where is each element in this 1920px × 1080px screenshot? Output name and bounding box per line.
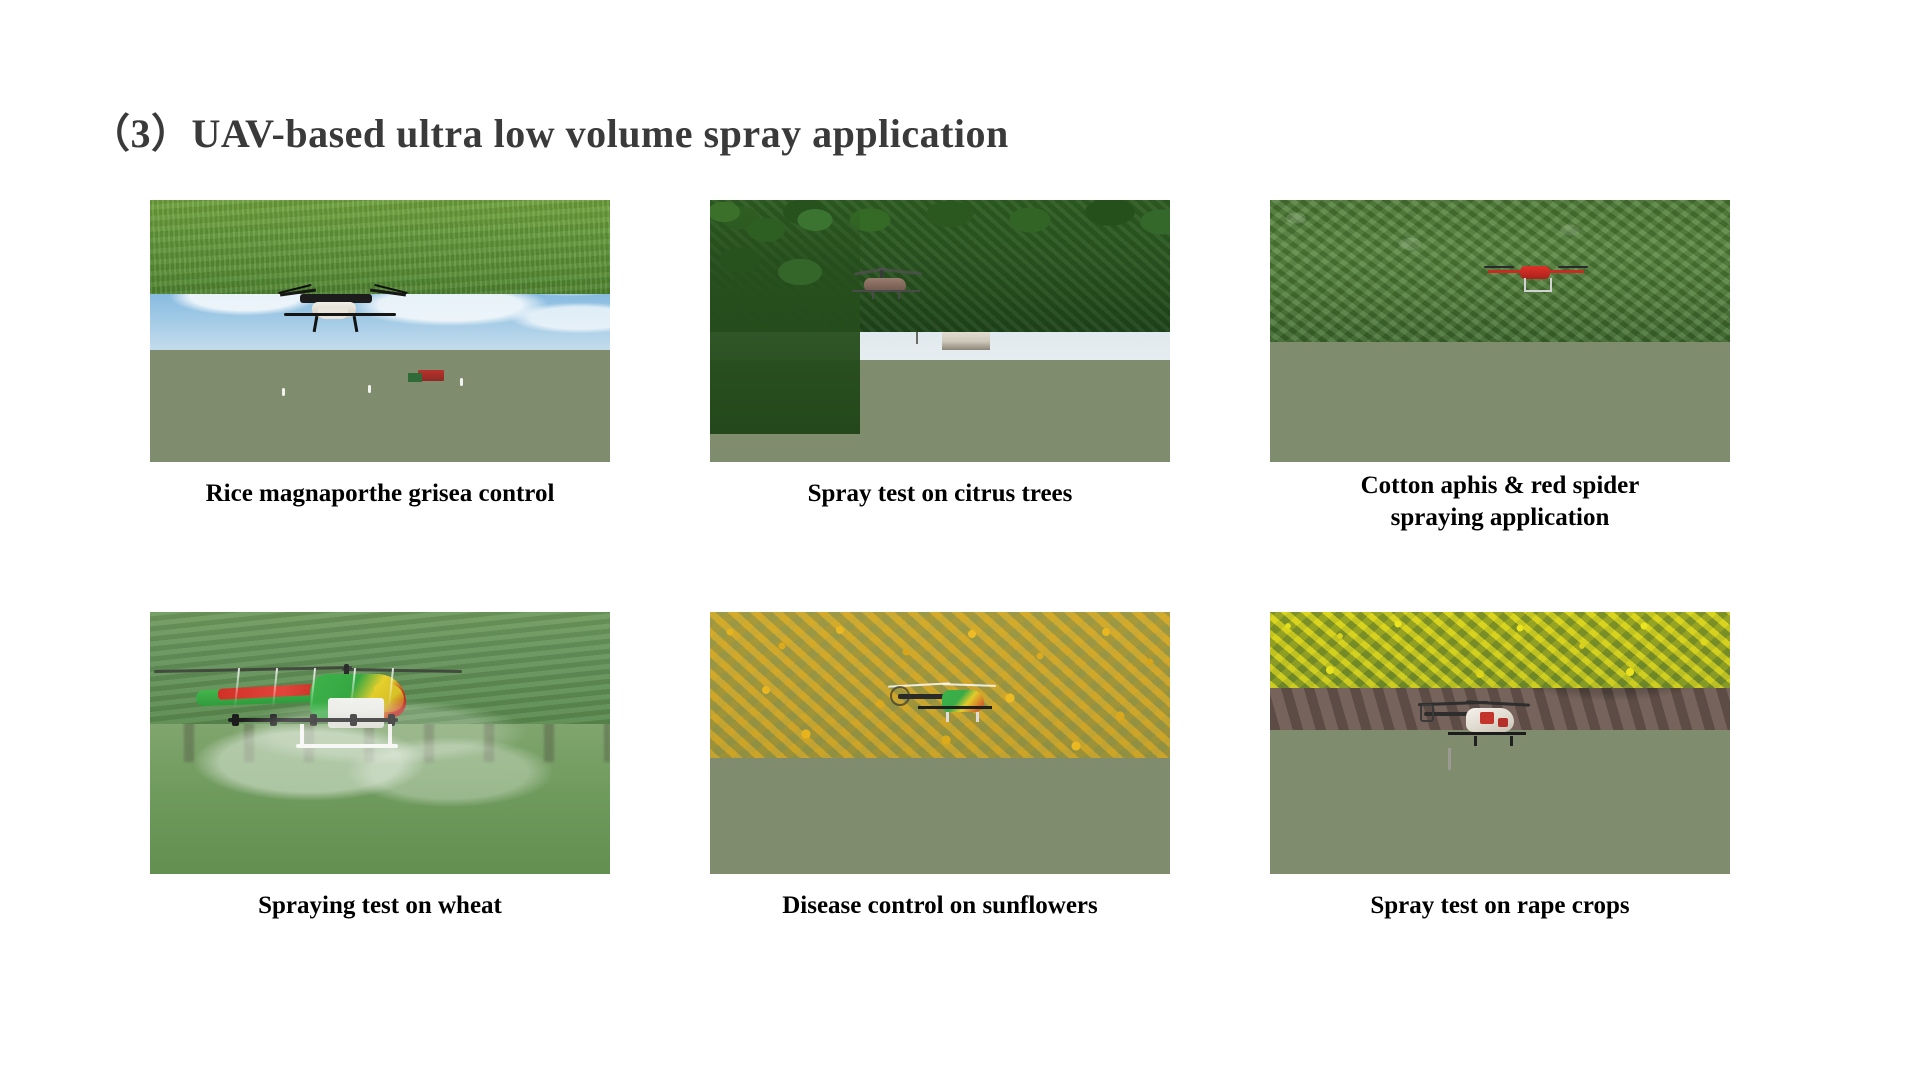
sunflower-field-helicopter-photo: [710, 612, 1170, 874]
equipment-crate-green: [408, 373, 422, 382]
multirotor-drone: [278, 282, 408, 336]
gallery-item-cotton-aphis[interactable]: Cotton aphis & red spider spraying appli…: [1270, 200, 1730, 534]
spray-mist: [150, 612, 610, 874]
cotton-field-red-drone-photo: [1270, 200, 1730, 462]
unmanned-helicopter: [1418, 700, 1530, 746]
rice-field-multirotor-drone-photo: [150, 200, 610, 462]
photo-gallery-grid: Rice magnaporthe grisea control: [150, 200, 1790, 922]
citrus-orchard-helicopter-photo: [710, 200, 1170, 462]
gallery-item-citrus-trees[interactable]: Spray test on citrus trees: [710, 200, 1170, 534]
page-title: （3）UAV-based ultra low volume spray appl…: [90, 108, 1009, 160]
wheat-field-helicopter-spray-photo: [150, 612, 610, 874]
rape-field-helicopter-village-photo: [1270, 612, 1730, 874]
photo-caption: Disease control on sunflowers: [710, 890, 1170, 922]
unmanned-helicopter: [888, 680, 996, 722]
gallery-item-rice-magnaporthe[interactable]: Rice magnaporthe grisea control: [150, 200, 610, 534]
photo-caption: Spray test on citrus trees: [710, 478, 1170, 510]
rape-blossom-field: [1270, 612, 1730, 688]
photo-caption: Rice magnaporthe grisea control: [150, 478, 610, 510]
unmanned-helicopter: [850, 262, 926, 302]
gallery-item-sunflowers[interactable]: Disease control on sunflowers: [710, 612, 1170, 922]
gallery-item-wheat[interactable]: Spraying test on wheat: [150, 612, 610, 922]
marker-post: [460, 378, 463, 386]
photo-caption: Spray test on rape crops: [1270, 890, 1730, 922]
presentation-slide: （3）UAV-based ultra low volume spray appl…: [0, 0, 1920, 1080]
transmission-tower: [1448, 748, 1451, 770]
rice-paddy: [150, 200, 610, 294]
marker-post: [282, 388, 285, 396]
photo-caption: Cotton aphis & red spider spraying appli…: [1270, 470, 1730, 534]
marker-post: [368, 385, 371, 393]
red-multirotor-drone: [1484, 258, 1588, 292]
gallery-item-rape-crops[interactable]: Spray test on rape crops: [1270, 612, 1730, 922]
photo-caption: Spraying test on wheat: [150, 890, 610, 922]
foreground-citrus-tree: [710, 200, 860, 434]
